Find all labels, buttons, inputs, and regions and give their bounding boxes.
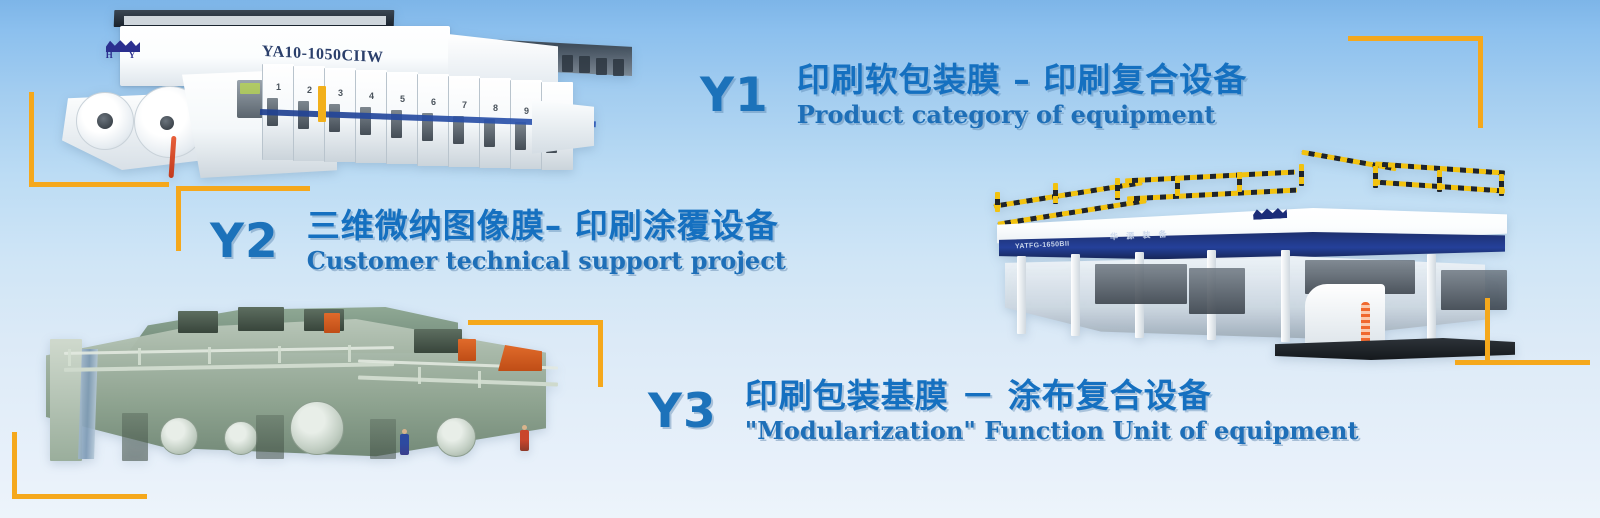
coater-railing-post-1 [995,192,1000,212]
press-print-unit-number: 8 [480,103,511,113]
coater-railing-post-3 [1115,178,1120,200]
paper-drum-2 [160,417,198,455]
press-canopy-inner [124,16,386,25]
coater-railing-top-3 [1125,170,1295,184]
entry-y1: Y1 印刷软包装膜 – 印刷复合设备 Product category of e… [700,62,1247,128]
entry-y2-title-cn: 三维微纳图像膜– 印刷涂覆设备 [307,208,786,245]
coater-railing-post-6 [1299,164,1304,186]
paper-rail-post-6 [418,367,421,384]
coater-railing-post-8 [1437,170,1442,192]
entry-y3: Y3 印刷包装基膜 － 涂布复合设备 "Modularization" Func… [648,378,1359,444]
entry-y1-subtitle-en: Product category of equipment [797,102,1247,128]
operator-body [400,434,409,455]
entry-y2-code: Y2 [210,218,279,265]
coater-railing-post-5 [1237,172,1242,192]
press-roll-hub-left [97,113,113,129]
paper-frame-dark-3 [370,419,396,459]
coater-mechanism-2 [1189,268,1245,314]
paper-rail-post-7 [478,371,481,388]
entry-y2-subtitle-en: Customer technical support project [307,248,786,274]
press-print-unit-control [515,122,526,150]
paper-rail-post-5 [348,345,351,362]
coater-brand-logo [1253,207,1288,220]
paper-frame-dark-2 [256,415,284,459]
coater-column-6 [1427,254,1436,342]
press-print-unit-number: 6 [418,97,449,107]
coater-column-1 [1017,256,1026,334]
paper-orange-cover [498,345,542,371]
entry-y3-title-cn: 印刷包装基膜 － 涂布复合设备 [745,378,1359,415]
press-print-unit-number: 1 [263,82,294,92]
press-print-unit-number: 5 [387,94,418,104]
press-print-unit-number: 3 [325,88,356,98]
press-brand-logo: H Y [102,40,144,62]
paper-drum-3 [224,421,258,455]
press-print-unit-number: 7 [449,100,480,110]
paper-drum-1 [290,401,344,455]
entry-y3-subtitle-en: "Modularization" Function Unit of equipm… [745,418,1359,444]
paper-web-sheet [78,349,98,459]
coater-railing-post-7 [1373,166,1378,188]
coater-mechanism-1 [1095,264,1187,304]
press-brand-text: H Y [104,50,144,60]
press-roll-hub-right [160,116,174,130]
entry-y3-text: 印刷包装基膜 － 涂布复合设备 "Modularization" Functio… [745,378,1359,444]
paper-hood-2 [238,307,284,331]
paper-hood-4 [414,329,462,353]
paper-orange-part-1 [324,313,340,333]
coater-railing-top-5 [1301,150,1396,172]
paper-drum-4 [436,417,476,457]
paper-rail-post-1 [68,349,71,366]
paper-rail-post-3 [208,347,211,364]
coater-railing-post-2 [1053,183,1058,204]
paper-operator-1 [400,429,409,455]
entry-y2-text: 三维微纳图像膜– 印刷涂覆设备 Customer technical suppo… [307,208,786,274]
machine-image-coating-line: YATFG-1650BII 华 源 装 备 [975,152,1535,367]
paper-operator-2 [520,425,529,451]
paper-hood-1 [178,311,218,333]
paper-rail-post-4 [278,346,281,363]
press-print-unit-number: 4 [356,91,387,101]
operator-body [520,430,529,451]
coater-column-5 [1281,250,1290,342]
machine-image-gravure-press: H Y YA10-1050CIIW 12345678910 [62,8,592,178]
coater-column-2 [1071,254,1080,336]
entry-y3-code: Y3 [648,388,717,435]
paper-orange-part-2 [458,339,476,361]
press-print-unit-control [360,107,371,135]
paper-rail-post-2 [138,348,141,365]
machine-image-paper-coater [28,305,576,487]
entry-y1-code: Y1 [700,72,769,119]
press-print-unit-control [329,104,340,132]
entry-y1-text: 印刷软包装膜 – 印刷复合设备 Product category of equi… [797,62,1247,128]
paper-frame-dark-1 [122,413,148,461]
coater-railing-top-4 [1127,188,1297,202]
coater-railing-post-4 [1175,176,1180,196]
entry-y2: Y2 三维微纳图像膜– 印刷涂覆设备 Customer technical su… [210,208,786,274]
coater-mechanism-4 [1441,270,1507,310]
coater-railing-post-9 [1499,174,1504,196]
entry-y1-title-cn: 印刷软包装膜 – 印刷复合设备 [797,62,1247,99]
banner-stage: H Y YA10-1050CIIW 12345678910 [0,0,1600,518]
press-yellow-marker [318,86,326,122]
paper-left-frame [50,339,82,461]
